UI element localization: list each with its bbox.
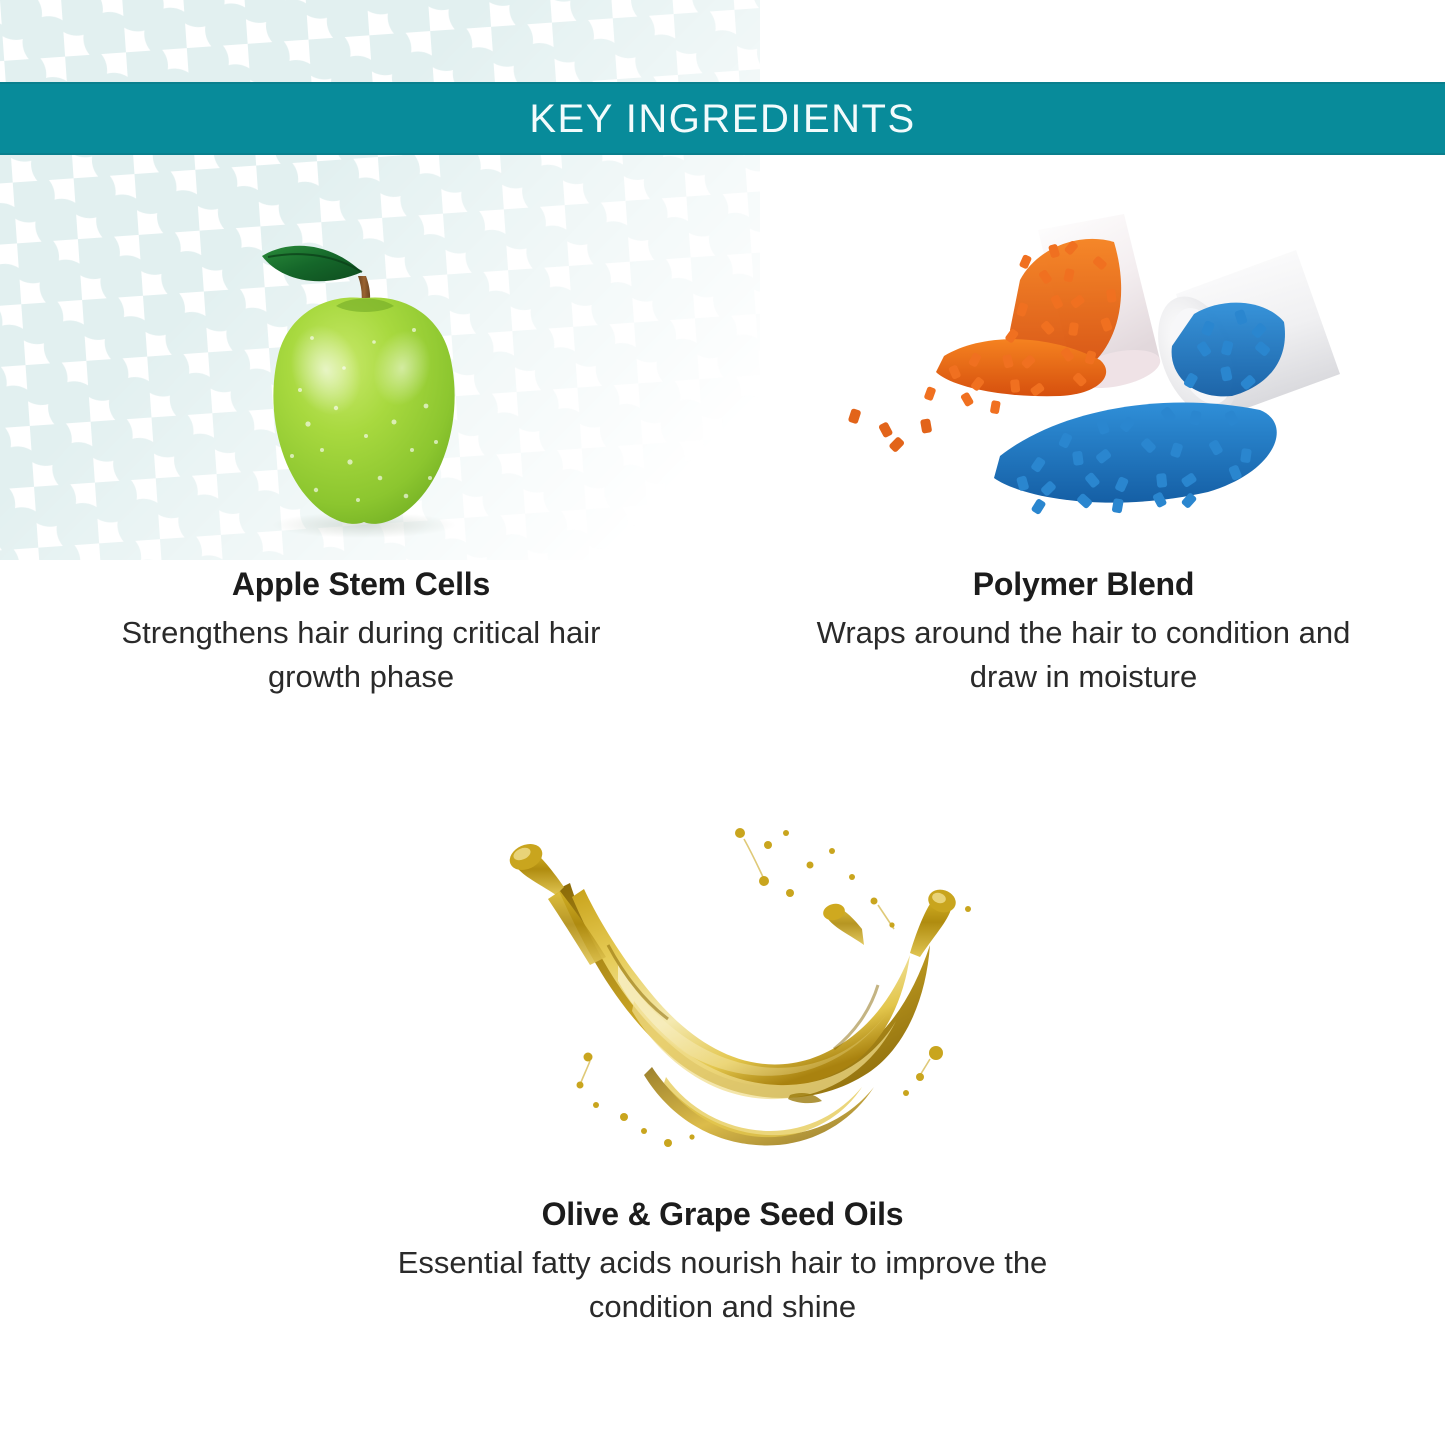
ingredient-description: Strengthens hair during critical hair gr… xyxy=(81,611,641,699)
ingredient-row-top: Apple Stem Cells Strengthens hair during… xyxy=(0,200,1445,760)
ingredient-card-polymer-blend: Polymer Blend Wraps around the hair to c… xyxy=(722,200,1445,760)
green-apple-image xyxy=(60,200,662,540)
ingredient-title: Apple Stem Cells xyxy=(232,566,490,603)
ingredient-row-bottom: Olive & Grape Seed Oils Essential fatty … xyxy=(0,800,1445,1329)
key-ingredients-banner: KEY INGREDIENTS xyxy=(0,82,1445,155)
ingredient-card-olive-grape-seed-oils: Olive & Grape Seed Oils Essential fatty … xyxy=(293,800,1153,1329)
ingredient-card-apple-stem-cells: Apple Stem Cells Strengthens hair during… xyxy=(0,200,722,760)
banner-title: KEY INGREDIENTS xyxy=(529,99,915,139)
oil-splash-image xyxy=(293,800,1153,1170)
ingredient-title: Olive & Grape Seed Oils xyxy=(542,1196,904,1233)
polymer-pellets-image xyxy=(762,200,1405,540)
ingredient-description: Essential fatty acids nourish hair to im… xyxy=(383,1241,1063,1329)
ingredient-title: Polymer Blend xyxy=(973,566,1194,603)
ingredient-description: Wraps around the hair to condition and d… xyxy=(804,611,1364,699)
infographic-page: KEY INGREDIENTS xyxy=(0,0,1445,1445)
